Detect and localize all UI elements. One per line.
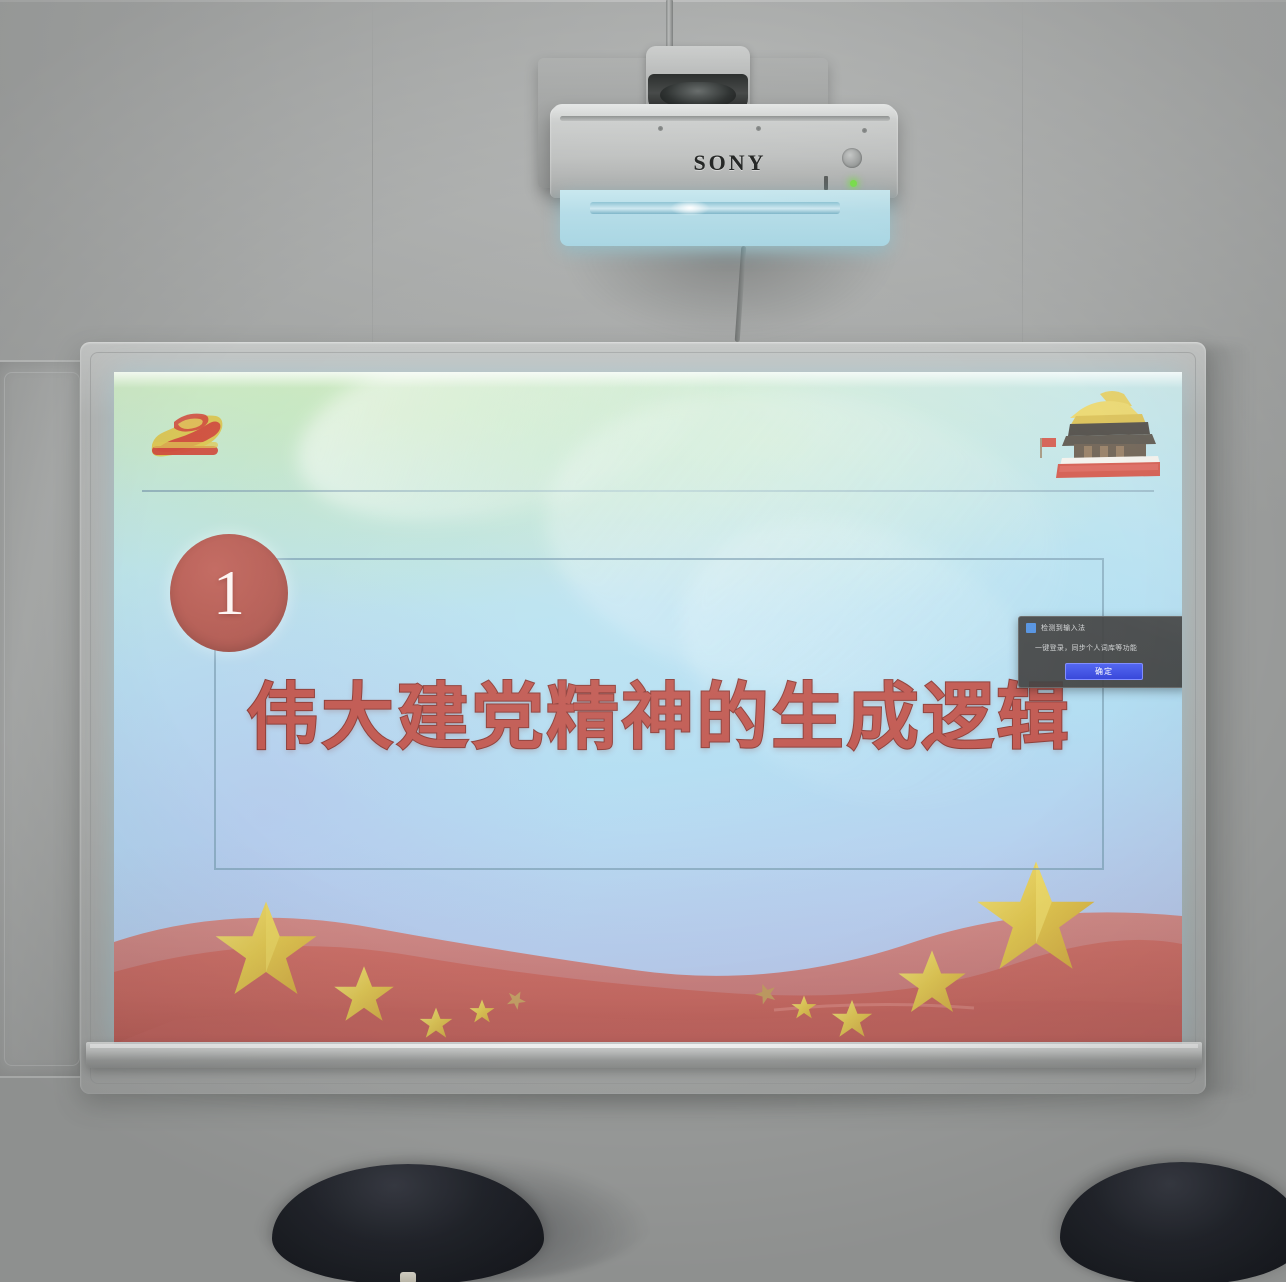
slide-title: 伟大建党精神的生成逻辑 bbox=[214, 658, 1104, 763]
presentation-slide: 1 伟大建党精神的生成逻辑 bbox=[114, 372, 1182, 1044]
tiananmen-gate-icon bbox=[1040, 386, 1160, 482]
popup-confirm-button[interactable]: 确定 bbox=[1065, 663, 1143, 680]
popup-title: 检测到输入法 bbox=[1041, 623, 1085, 633]
classroom-scene: SONY bbox=[0, 0, 1286, 1282]
sony-logo: SONY bbox=[670, 150, 790, 176]
projector-sensor-slot bbox=[824, 176, 828, 190]
wall-panel-seam-left bbox=[372, 0, 373, 350]
slide-header-divider bbox=[142, 490, 1154, 492]
projection-screen[interactable]: 1 伟大建党精神的生成逻辑 bbox=[114, 372, 1182, 1044]
popup-header: 检测到输入法 bbox=[1026, 623, 1085, 633]
app-notification-icon bbox=[1026, 623, 1036, 633]
section-number-badge: 1 bbox=[170, 534, 288, 652]
projector-vent bbox=[560, 116, 890, 121]
projector-screw bbox=[862, 128, 867, 133]
hair-clip bbox=[400, 1272, 416, 1282]
ime-notification-popup[interactable]: 检测到输入法 一键登录，同步个人词库等功能 确定 bbox=[1018, 616, 1182, 688]
interactive-whiteboard[interactable]: 1 伟大建党精神的生成逻辑 bbox=[0, 336, 1210, 1106]
section-number-text: 1 bbox=[213, 561, 245, 625]
students-foreground bbox=[0, 1140, 1286, 1282]
ccp-party-emblem-icon bbox=[144, 402, 228, 464]
projector-mirror bbox=[590, 202, 840, 214]
projector-lamp-glow bbox=[670, 200, 710, 216]
projector-focus-dial[interactable] bbox=[842, 148, 862, 168]
projector-power-led bbox=[850, 180, 857, 187]
whiteboard-wing-inner-border bbox=[4, 372, 80, 1066]
whiteboard-tray-highlight bbox=[90, 1044, 1198, 1048]
projector-wall-shadow bbox=[564, 250, 894, 340]
whiteboard-left-wing-panel[interactable] bbox=[0, 360, 90, 1078]
projector-screw bbox=[658, 126, 663, 131]
projector-screw bbox=[756, 126, 761, 131]
popup-message: 一键登录，同步个人词库等功能 bbox=[1035, 643, 1179, 653]
sony-projector: SONY bbox=[520, 0, 920, 300]
projector-light-throw bbox=[560, 190, 890, 246]
wall-panel-seam-right bbox=[1022, 0, 1023, 350]
